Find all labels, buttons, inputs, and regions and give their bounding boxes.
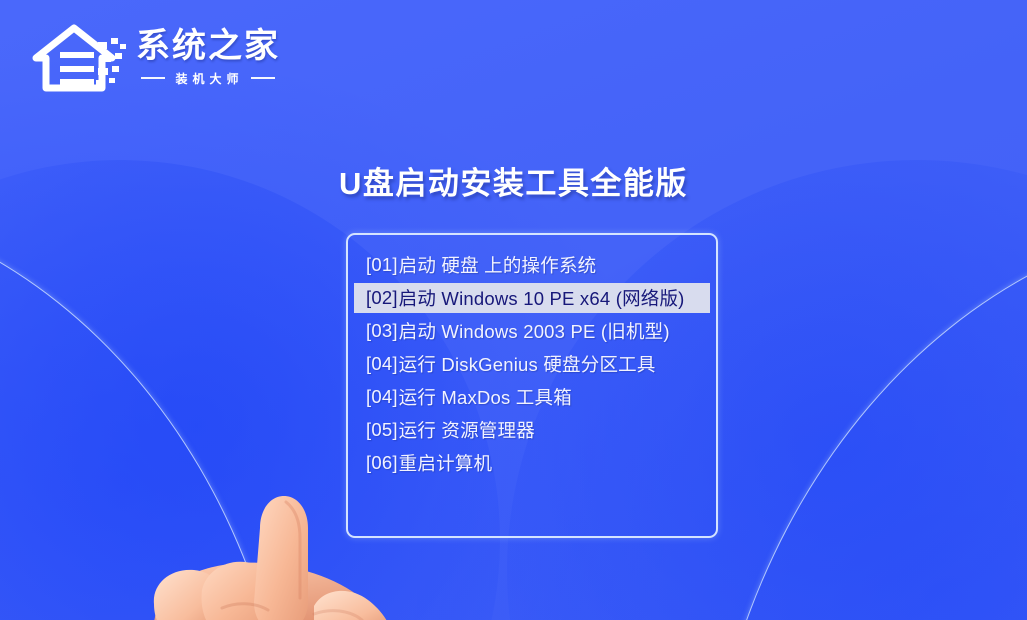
boot-menu-item-label: 运行 资源管理器 [399, 417, 535, 443]
boot-menu-item[interactable]: [04]运行 MaxDos 工具箱 [354, 382, 710, 412]
boot-menu-screen: 系统之家 装机大师 U盘启动安装工具全能版 [01]启动 硬盘 上的操作系统[0… [0, 0, 1027, 620]
boot-menu-item-code: [02] [366, 287, 398, 309]
logo-subtitle-row: 装机大师 [141, 70, 274, 87]
boot-menu-item-label: 运行 MaxDos 工具箱 [399, 384, 572, 410]
boot-menu-item-code: [06] [366, 452, 398, 474]
boot-menu-item-label: 运行 DiskGenius 硬盘分区工具 [399, 351, 656, 377]
logo-subtitle: 装机大师 [172, 70, 243, 87]
boot-menu-item[interactable]: [02]启动 Windows 10 PE x64 (网络版) [354, 283, 710, 313]
house-pixel-logo-icon [32, 22, 128, 96]
boot-menu-item-label: 启动 Windows 10 PE x64 (网络版) [399, 285, 685, 311]
boot-menu-panel: [01]启动 硬盘 上的操作系统[02]启动 Windows 10 PE x64… [346, 233, 718, 538]
boot-menu-item-label: 重启计算机 [399, 450, 493, 476]
boot-menu-item-code: [04] [366, 353, 398, 375]
boot-menu-item-label: 启动 Windows 2003 PE (旧机型) [399, 318, 670, 344]
logo-title: 系统之家 [136, 29, 280, 65]
boot-menu-item-code: [04] [366, 386, 398, 408]
boot-menu-item[interactable]: [05]运行 资源管理器 [354, 415, 710, 445]
page-title: U盘启动安装工具全能版 [0, 158, 1027, 203]
boot-menu-item-code: [03] [366, 320, 398, 342]
boot-menu-item[interactable]: [03]启动 Windows 2003 PE (旧机型) [354, 316, 710, 346]
logo-dash-right [251, 77, 275, 79]
boot-menu-item-code: [05] [366, 419, 398, 441]
boot-menu-item[interactable]: [01]启动 硬盘 上的操作系统 [354, 250, 710, 280]
boot-menu-item[interactable]: [04]运行 DiskGenius 硬盘分区工具 [354, 349, 710, 379]
boot-menu-item-code: [01] [366, 254, 398, 276]
boot-menu-item-label: 启动 硬盘 上的操作系统 [399, 252, 597, 278]
boot-menu-item[interactable]: [06]重启计算机 [354, 448, 710, 478]
logo-dash-left [141, 77, 165, 79]
brand-logo: 系统之家 装机大师 [32, 22, 280, 96]
